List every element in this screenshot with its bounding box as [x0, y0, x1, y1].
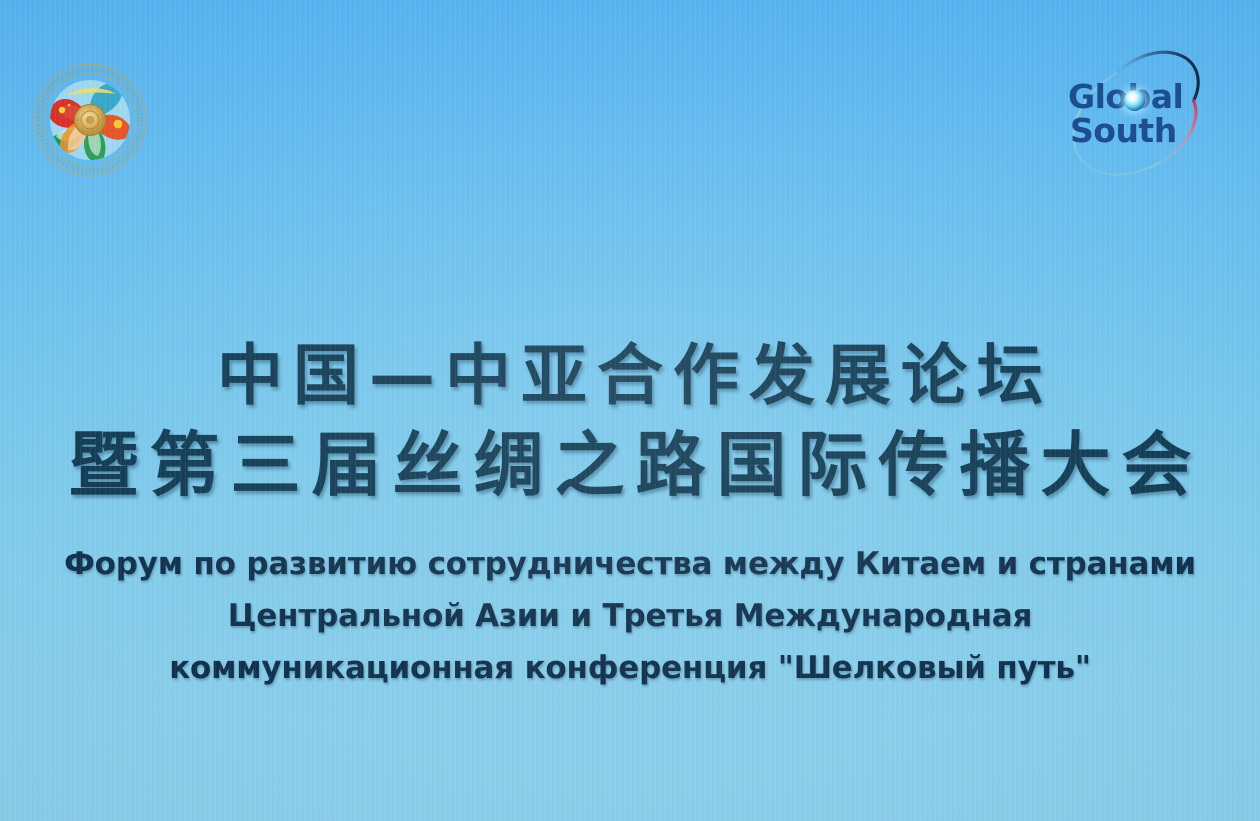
- china-central-asia-summit-emblem: [30, 60, 150, 180]
- title-line-1: 中国—中亚合作发展论坛: [0, 333, 1260, 419]
- title-line-2: 暨第三届丝绸之路国际传播大会: [0, 419, 1260, 511]
- subtitle-line-2: Центральной Азии и Третья Международная: [0, 590, 1260, 642]
- global-south-wordmark: Global South: [1068, 80, 1183, 148]
- page-title: 中国—中亚合作发展论坛 暨第三届丝绸之路国际传播大会: [0, 333, 1260, 511]
- glow-dot-icon: [1124, 90, 1145, 111]
- global-south-line2: South: [1068, 114, 1183, 148]
- subtitle-line-1: Форум по развитию сотрудничества между К…: [0, 538, 1260, 590]
- conference-banner: Global South 中国—中亚合作发展论坛 暨第三届丝绸之路国际传播大会 …: [0, 0, 1260, 821]
- subtitle-line-3: коммуникационная конференция "Шелковый п…: [0, 642, 1260, 694]
- page-subtitle: Форум по развитию сотрудничества между К…: [0, 538, 1260, 694]
- global-south-logo: Global South: [1060, 58, 1225, 178]
